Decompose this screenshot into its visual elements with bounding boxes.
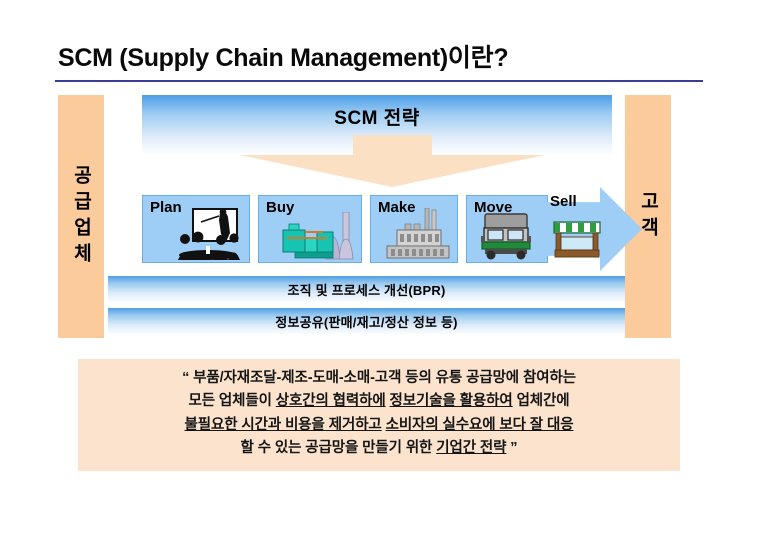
process-step-plan-label: Plan	[150, 199, 182, 216]
market-stall-icon	[552, 221, 602, 259]
quote-line-4-text-a: 할 수 있는 공급망을 만들기 위한	[241, 440, 437, 456]
definition-quote-box: “ 부품/자재조달-제조-도매-소매-고객 등의 유통 공급망에 참여하는 모든…	[78, 359, 680, 471]
quote-line-2-underline-2: 정보기술을 활용하여	[390, 393, 513, 409]
bar-bpr-label: 조직 및 프로세스 개선(BPR)	[288, 280, 446, 299]
quote-line-2-text-a: 모든 업체들이	[188, 393, 275, 409]
bar-info-sharing: 정보공유(판매/재고/정산 정보 등)	[108, 308, 625, 335]
quote-line-3: 불필요한 시간과 비용을 제거하고 소비자의 실수요에 보다 잘 대응	[88, 414, 670, 437]
process-step-plan[interactable]: Plan	[142, 195, 250, 263]
quote-line-2-text-c: 업체간에	[513, 393, 570, 409]
supplier-pillar-label: 공급업체	[72, 165, 91, 269]
down-arrow-icon	[240, 135, 545, 187]
quote-line-4: 할 수 있는 공급망을 만들기 위한 기업간 전략 ”	[88, 437, 670, 460]
page-title: SCM (Supply Chain Management)이란?	[58, 38, 508, 74]
process-step-buy-label: Buy	[266, 199, 294, 216]
quote-line-1: “ 부품/자재조달-제조-도매-소매-고객 등의 유통 공급망에 참여하는	[88, 367, 670, 390]
quote-line-3-underline-2: 소비자의 실수요에 보다 잘 대응	[386, 417, 574, 433]
quote-line-4-text-b: ”	[506, 440, 517, 456]
delivery-truck-icon	[479, 212, 533, 260]
industrial-plant-icon	[281, 212, 357, 260]
process-step-row: Plan Buy	[142, 195, 642, 267]
process-step-move-label: Move	[474, 199, 512, 216]
process-step-move[interactable]: Move	[466, 195, 548, 263]
scm-diagram: 공급업체 고객 SCM 전략 Plan	[58, 95, 678, 340]
quote-line-2-underline-1: 상호간의 협력하에	[276, 393, 386, 409]
title-divider	[55, 80, 703, 82]
quote-line-1-text: “ 부품/자재조달-제조-도매-소매-고객 등의 유통 공급망에 참여하는	[182, 370, 576, 386]
process-step-make-label: Make	[378, 199, 416, 216]
bar-bpr: 조직 및 프로세스 개선(BPR)	[108, 276, 625, 303]
process-step-buy[interactable]: Buy	[258, 195, 362, 263]
process-step-sell-label: Sell	[550, 193, 577, 210]
scm-strategy-label: SCM 전략	[142, 103, 612, 130]
supplier-pillar: 공급업체	[58, 95, 104, 338]
quote-line-3-underline-1: 불필요한 시간과 비용을 제거하고	[185, 417, 382, 433]
process-step-make[interactable]: Make	[370, 195, 458, 263]
quote-line-2: 모든 업체들이 상호간의 협력하에 정보기술을 활용하여 업체간에	[88, 390, 670, 413]
quote-line-4-underline-1: 기업간 전략	[436, 440, 506, 456]
bar-info-sharing-label: 정보공유(판매/재고/정산 정보 등)	[275, 312, 457, 331]
meeting-presentation-icon	[171, 208, 245, 260]
